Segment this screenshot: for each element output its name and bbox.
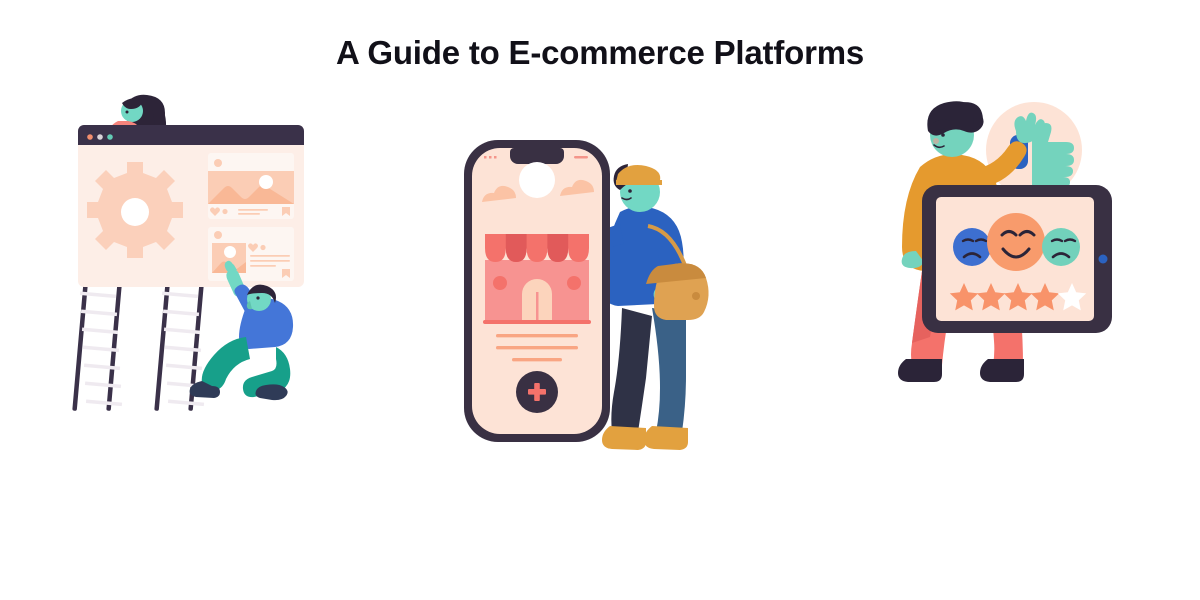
sun-icon [519,162,555,198]
happy-face-orange[interactable] [987,213,1045,271]
gear-icon [87,162,183,258]
avatar [214,231,222,239]
page-root: A Guide to E-commerce Platforms [0,0,1200,600]
smartphone[interactable] [464,140,610,442]
sun-icon [259,175,273,189]
phone-notch [510,148,564,164]
ladder-left-icon [72,281,122,411]
shoe [256,384,288,400]
phone-illustration [430,120,770,465]
browser-illustration [60,85,340,405]
gray-dot-icon[interactable] [97,134,103,140]
comment-icon [222,209,227,214]
teal-dot-icon[interactable] [107,134,113,140]
sad-face-blue[interactable] [953,228,991,266]
camera-dot-icon [1099,255,1108,264]
avatar [214,159,222,167]
add-button[interactable] [516,371,558,413]
boot [980,359,1024,382]
image-post-card[interactable] [208,153,294,219]
boot [602,426,646,450]
rating-illustration [860,75,1140,395]
orange-dot-icon[interactable] [87,134,93,140]
boot [898,359,942,382]
tablet[interactable] [922,185,1112,333]
storefront-icon [483,234,591,324]
page-title: A Guide to E-commerce Platforms [0,34,1200,72]
sun-icon [224,246,236,258]
thumbnail-post-card[interactable] [208,227,294,281]
comment-icon [260,245,265,250]
boot [644,426,688,450]
sad-face-teal[interactable] [1042,228,1080,266]
